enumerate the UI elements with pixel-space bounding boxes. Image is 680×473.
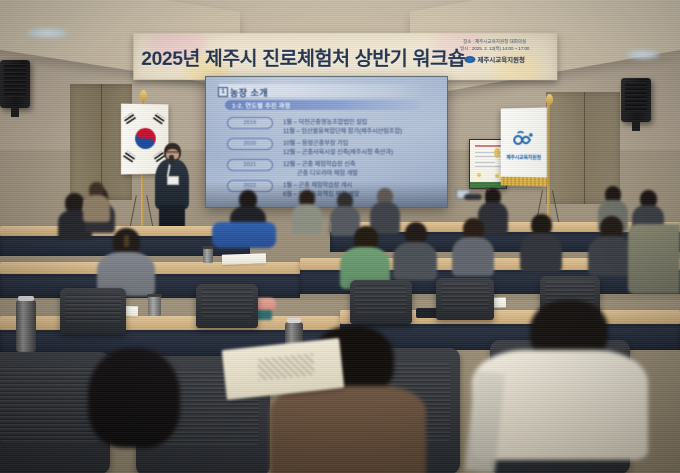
slide-event: 곤충 디오라마 체험 개발 [297,168,358,177]
flag-fringe [501,177,547,187]
cup-lid [202,246,214,249]
speaker-mount-right [632,120,639,131]
chair-empty [196,284,258,328]
speaker-grill-right [625,82,648,113]
je-logo-icon [464,56,475,63]
attendee-mid-3 [393,222,437,280]
attendee-body [83,195,110,222]
attendee-body [520,233,562,272]
cup-lid [147,294,162,297]
attendee-mid-5 [520,214,562,272]
blue-padded-coat [212,222,276,248]
slide-year-badge: 2020 [227,138,273,150]
banner-details: 장소 : 제주시교육지원청 대회의실 일시 : 2025. 2. 13(목) 1… [438,39,551,64]
poster-title-line [475,145,501,147]
ceiling-light-right [626,50,660,59]
banner-organization: 제주시교육지원청 [438,55,551,64]
attendee-back-5 [292,190,322,234]
attendee-body [292,204,322,234]
attendee-head [88,348,180,448]
trigram-bottom-left [123,151,136,163]
attendee-mid-2 [340,226,390,288]
wall-speaker-right [621,78,651,122]
attendee-body [452,237,494,276]
slide-event: 10월 – 용왕곤충부장 가입 [283,138,348,147]
speaker-mount-left [11,106,18,117]
slide-section-number: 1 [218,87,228,97]
attendee-mid-4 [452,218,494,276]
attendee-foreground-right [472,300,652,473]
coat-on-chair-olive [628,224,680,294]
slide-event: 12월 – 곤충 체험학습장 신축 [283,159,355,168]
standing-presenter [152,143,192,233]
handout-paper [222,253,266,265]
ceiling-light-left [26,28,68,38]
attendee-mid-1 [97,228,155,294]
poster-text-line [475,162,495,163]
wall-speaker-left [0,60,30,108]
attendee-body [393,242,437,280]
jeju-flag-label: 제주시교육지원청 [505,154,543,161]
workshop-photo: 2025년 제주시 진로체험처 상반기 워크숍 장소 : 제주시교육지원청 대회… [0,0,680,473]
door-right-seam [584,92,585,204]
je-logo-icon [511,130,537,150]
attendee-back-3 [83,182,110,222]
slide-subtitle-bar: 1-2. 연도별 추진 과정 [225,100,421,110]
tumbler-cap [18,296,34,301]
coffee-cup [203,248,213,263]
presenter-glasses [166,151,179,153]
presenter-badge [167,176,179,185]
banner-datetime: 일시 : 2025. 2. 13(목) 14:00 ~ 17:00 [438,45,551,52]
slide-event: 1월 – 덕천곤충영농조합법인 설립 [283,117,367,126]
slide-subtitle: 1-2. 연도별 추진 과정 [232,101,290,110]
slide-year-badge: 2019 [227,117,273,129]
poster-dot [495,174,499,178]
slide-event: 11월 – 임산물융복합단체 참가(제주시산림조합) [283,126,402,135]
presenter-hand-mic [169,155,174,165]
poster-text-line [475,166,501,167]
banner-title: 2025년 제주시 진로체험처 상반기 워크숍 [141,42,440,71]
slide-event: 12월 – 곤충사육시설 신축(제주시청 축산과) [283,147,393,156]
slide-section-title: 농장 소개 [230,86,268,99]
attendee-foreground-left [60,348,200,473]
chair-empty [60,288,126,334]
trigram-top-right [153,113,166,125]
hair-clip [124,235,129,247]
trigram-top-left [123,112,136,124]
poster-dot [494,148,500,158]
jeju-education-flag: 제주시교육지원청 [501,107,547,186]
poster-dot [477,173,481,177]
projection-screen-frame: 1 농장 소개 1-2. 연도별 추진 과정 2019 1월 – 덕천곤충영농조… [205,76,448,208]
raised-arm [464,194,482,200]
slide-year-badge: 2021 [227,159,273,171]
thermos-tumbler-left [16,300,36,352]
flag-pole-right [547,104,550,224]
attendee-body [270,386,426,473]
speaker-grill-left [4,64,27,98]
coffee-cup [148,296,161,316]
event-banner: 2025년 제주시 진로체험처 상반기 워크숍 장소 : 제주시교육지원청 대회… [133,33,557,80]
projection-screen: 1 농장 소개 1-2. 연도별 추진 과정 2019 1월 – 덕천곤충영농조… [206,77,447,207]
